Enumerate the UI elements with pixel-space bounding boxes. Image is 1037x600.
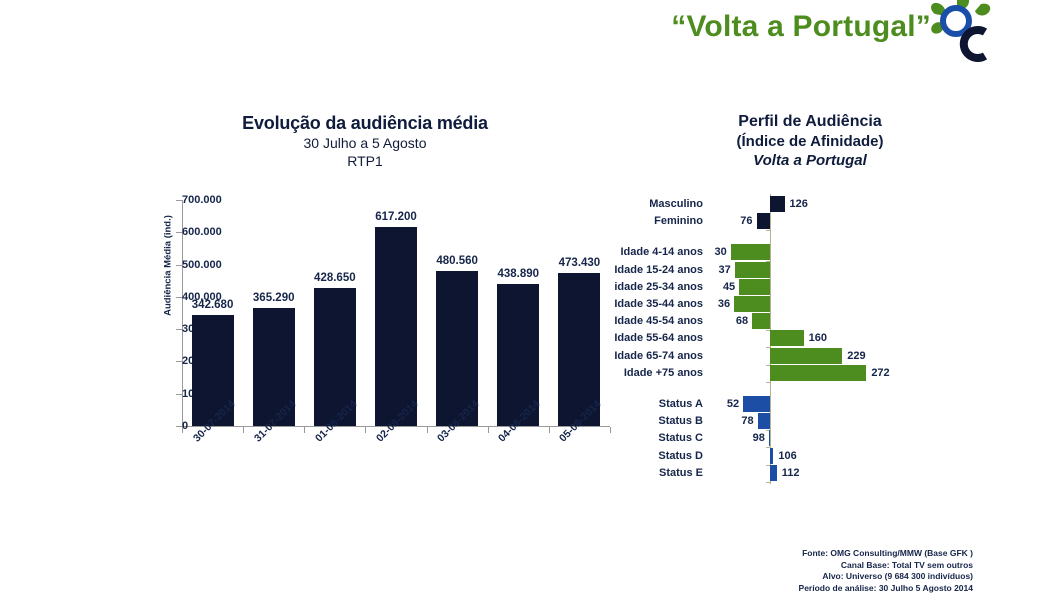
profile-row-label: Status E <box>600 463 703 483</box>
x-tick-mark <box>243 427 244 433</box>
y-tick-mark <box>176 394 182 395</box>
y-axis-title: Audiência Média (ind.) <box>163 196 174 336</box>
y-tick-mark <box>176 200 182 201</box>
x-tick-mark <box>488 427 489 433</box>
profile-bar <box>734 296 770 312</box>
profile-value-label: 76 <box>735 211 753 231</box>
footnote-block: Fonte: OMG Consulting/MMW (Base GFK )Can… <box>799 548 973 594</box>
bar-value-label: 480.560 <box>436 255 478 267</box>
left-chart-subtitle2: RTP1 <box>120 152 610 170</box>
profile-row-label: Feminino <box>600 211 703 231</box>
profile-bar <box>770 365 866 381</box>
profile-row-tick <box>766 482 771 483</box>
chart-evolucao-audiencia-media: Evolução da audiência média 30 Julho a 5… <box>120 112 610 522</box>
profile-bar <box>735 262 770 278</box>
x-tick-mark <box>182 427 183 433</box>
right-chart-subtitle: (Índice de Afinidade) <box>600 132 1020 151</box>
right-chart-plot-area: Masculino126Feminino76Idade 4-14 anos30I… <box>600 194 1020 524</box>
bar-value-label: 365.290 <box>253 292 295 304</box>
bar-value-label: 428.650 <box>314 272 356 284</box>
footnote-line: Fonte: OMG Consulting/MMW (Base GFK ) <box>799 548 973 560</box>
footnote-line: Canal Base: Total TV sem outros <box>799 560 973 572</box>
profile-value-label: 112 <box>782 463 800 483</box>
x-tick-mark <box>304 427 305 433</box>
profile-value-label: 272 <box>871 363 889 383</box>
x-tick-mark <box>549 427 550 433</box>
profile-bar <box>752 313 770 329</box>
bar-value-label: 617.200 <box>375 211 417 223</box>
footnote-line: Período de análise: 30 Julho 5 Agosto 20… <box>799 583 973 595</box>
y-tick-mark <box>176 297 182 298</box>
profile-bar <box>758 413 770 429</box>
left-chart-title: Evolução da audiência média <box>120 112 610 134</box>
x-tick-mark <box>365 427 366 433</box>
profile-bar <box>769 430 770 446</box>
footnote-line: Alvo: Universo (9 684 300 indivíduos) <box>799 571 973 583</box>
left-chart-plot-area: Audiência Média (ind.) 700.000600.000500… <box>120 200 610 440</box>
profile-bar <box>770 448 773 464</box>
y-tick-mark <box>176 265 182 266</box>
profile-bar <box>770 330 804 346</box>
y-tick-mark <box>176 232 182 233</box>
right-chart-subtitle2: Volta a Portugal <box>600 151 1020 170</box>
profile-row-tick <box>766 230 771 231</box>
profile-row-label: Idade +75 anos <box>600 363 703 383</box>
profile-row: Feminino76 <box>600 211 1020 231</box>
page-header: “Volta a Portugal” <box>0 0 1037 68</box>
bar <box>375 227 417 426</box>
bar-value-label: 438.890 <box>497 268 539 280</box>
y-tick-mark <box>176 361 182 362</box>
profile-bar <box>743 396 770 412</box>
omg-circular-logo-icon <box>927 0 999 62</box>
profile-bar <box>770 196 785 212</box>
y-tick-mark <box>176 426 182 427</box>
bar-value-label: 473.430 <box>559 257 601 269</box>
profile-row: Idade +75 anos272 <box>600 363 1020 383</box>
profile-bar <box>739 279 770 295</box>
chart-perfil-de-audiencia: Perfil de Audiência (Índice de Afinidade… <box>600 112 1020 532</box>
profile-bar <box>770 348 842 364</box>
bar-value-label: 342.680 <box>192 299 234 311</box>
profile-bar <box>770 465 777 481</box>
x-tick-mark <box>427 427 428 433</box>
y-tick-mark <box>176 329 182 330</box>
profile-row-tick <box>766 382 771 383</box>
profile-bar <box>757 213 770 229</box>
profile-bar <box>731 244 770 260</box>
right-chart-title: Perfil de Audiência <box>600 112 1020 132</box>
profile-row: Status E112 <box>600 463 1020 483</box>
brand-title: “Volta a Portugal” <box>671 10 931 44</box>
left-chart-subtitle: 30 Julho a 5 Agosto <box>120 134 610 152</box>
